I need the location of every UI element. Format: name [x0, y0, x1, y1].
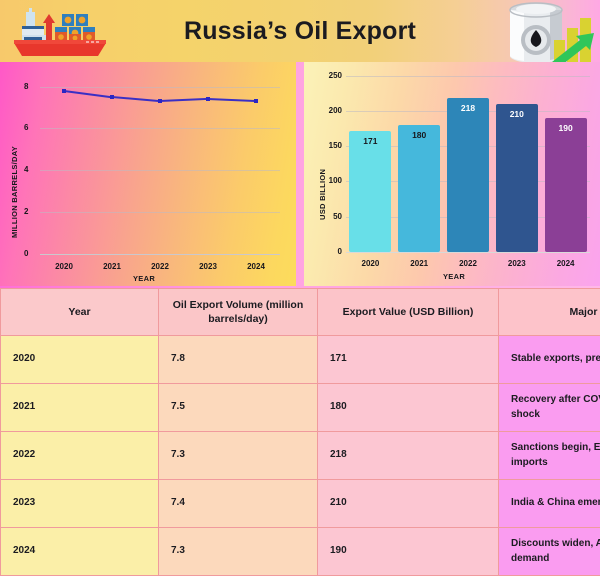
bar-x-tick: 2020: [346, 259, 395, 268]
table-cell-value: 190: [318, 528, 499, 576]
line-y-tick: 8: [24, 82, 28, 91]
infographic-root: Russia’s Oil Export MILLION BARRELS/DAY …: [0, 0, 600, 570]
table-cell-year: 2024: [1, 528, 159, 576]
line-x-tick: 2021: [88, 262, 136, 271]
table-cell-value: 180: [318, 384, 499, 432]
oil-export-table: Year Oil Export Volume (million barrels/…: [0, 288, 600, 576]
table-cell-value: 218: [318, 432, 499, 480]
line-gridline: [40, 87, 280, 88]
table-header-value: Export Value (USD Billion): [318, 289, 499, 336]
table-cell-value: 210: [318, 480, 499, 528]
table-row: 20247.3190Discounts widen, Asia dominate…: [1, 528, 600, 576]
line-data-point: [110, 95, 114, 99]
bar-y-tick: 250: [322, 71, 342, 80]
table-cell-year: 2021: [1, 384, 159, 432]
bar-x-tick: 2023: [492, 259, 541, 268]
line-gridline: [40, 254, 280, 255]
line-gridline: [40, 128, 280, 129]
line-gridline: [40, 170, 280, 171]
bar-x-tick: 2022: [444, 259, 493, 268]
table-cell-volume: 7.5: [159, 384, 318, 432]
line-y-tick: 6: [24, 123, 28, 132]
table-cell-year: 2020: [1, 336, 159, 384]
table-cell-shift: Recovery after COVID-19 demand shock: [499, 384, 600, 432]
table-cell-year: 2022: [1, 432, 159, 480]
bar-value-label: 218: [447, 103, 489, 113]
bar-x-tick: 2021: [395, 259, 444, 268]
bar-chart-xlabel: YEAR: [443, 272, 465, 281]
line-chart: MILLION BARRELS/DAY YEAR 024682020202120…: [0, 62, 296, 286]
line-gridline: [40, 212, 280, 213]
line-y-tick: 0: [24, 249, 28, 258]
bar-value-label: 171: [349, 136, 391, 146]
charts-row: MILLION BARRELS/DAY YEAR 024682020202120…: [0, 62, 600, 286]
bar-y-tick: 50: [322, 212, 342, 221]
table-cell-year: 2023: [1, 480, 159, 528]
title-banner: Russia’s Oil Export: [0, 0, 600, 62]
bar-chart: USD BILLION YEAR 05010015020025017120201…: [304, 62, 600, 286]
bar-x-axis: [346, 252, 590, 253]
table-row: 20227.3218Sanctions begin, Europe cuts i…: [1, 432, 600, 480]
table-body: 20207.8171Stable exports, pre-Ukraine wa…: [1, 336, 600, 576]
table-header-row: Year Oil Export Volume (million barrels/…: [1, 289, 600, 336]
bar: [496, 104, 538, 252]
line-chart-ylabel: MILLION BARRELS/DAY: [10, 146, 19, 238]
table-header-year: Year: [1, 289, 159, 336]
bar-value-label: 210: [496, 109, 538, 119]
bar-gridline: [346, 76, 590, 77]
bar-y-tick: 150: [322, 141, 342, 150]
table-cell-value: 171: [318, 336, 499, 384]
table-cell-volume: 7.3: [159, 528, 318, 576]
line-data-point: [62, 89, 66, 93]
bar: [545, 118, 587, 252]
line-data-point: [206, 97, 210, 101]
oil-barrel-growth-icon: [502, 0, 598, 62]
bar-y-tick: 0: [322, 247, 342, 256]
table-header-shifts: Major Shifts: [499, 289, 600, 336]
table-cell-volume: 7.4: [159, 480, 318, 528]
bar-y-tick: 200: [322, 106, 342, 115]
bar-value-label: 180: [398, 130, 440, 140]
line-data-point: [254, 99, 258, 103]
bar-y-tick: 100: [322, 176, 342, 185]
line-chart-xlabel: YEAR: [133, 274, 155, 283]
table-row: 20237.4210India & China emerge as top bu…: [1, 480, 600, 528]
line-y-tick: 4: [24, 165, 28, 174]
table-cell-shift: Stable exports, pre-Ukraine war: [499, 336, 600, 384]
table-row: 20217.5180Recovery after COVID-19 demand…: [1, 384, 600, 432]
table-header-volume: Oil Export Volume (million barrels/day): [159, 289, 318, 336]
bar: [349, 131, 391, 252]
line-x-tick: 2020: [40, 262, 88, 271]
table-cell-shift: Discounts widen, Asia dominates demand: [499, 528, 600, 576]
bar: [447, 98, 489, 252]
table-cell-shift: Sanctions begin, Europe cuts imports: [499, 432, 600, 480]
line-y-axis: [40, 74, 41, 255]
table-cell-volume: 7.3: [159, 432, 318, 480]
bar: [398, 125, 440, 252]
bar-x-tick: 2024: [541, 259, 590, 268]
table-cell-shift: India & China emerge as top buyers: [499, 480, 600, 528]
line-x-tick: 2022: [136, 262, 184, 271]
bar-value-label: 190: [545, 123, 587, 133]
line-x-tick: 2023: [184, 262, 232, 271]
line-data-point: [158, 99, 162, 103]
line-y-tick: 2: [24, 207, 28, 216]
table-cell-volume: 7.8: [159, 336, 318, 384]
line-x-tick: 2024: [232, 262, 280, 271]
table-row: 20207.8171Stable exports, pre-Ukraine wa…: [1, 336, 600, 384]
